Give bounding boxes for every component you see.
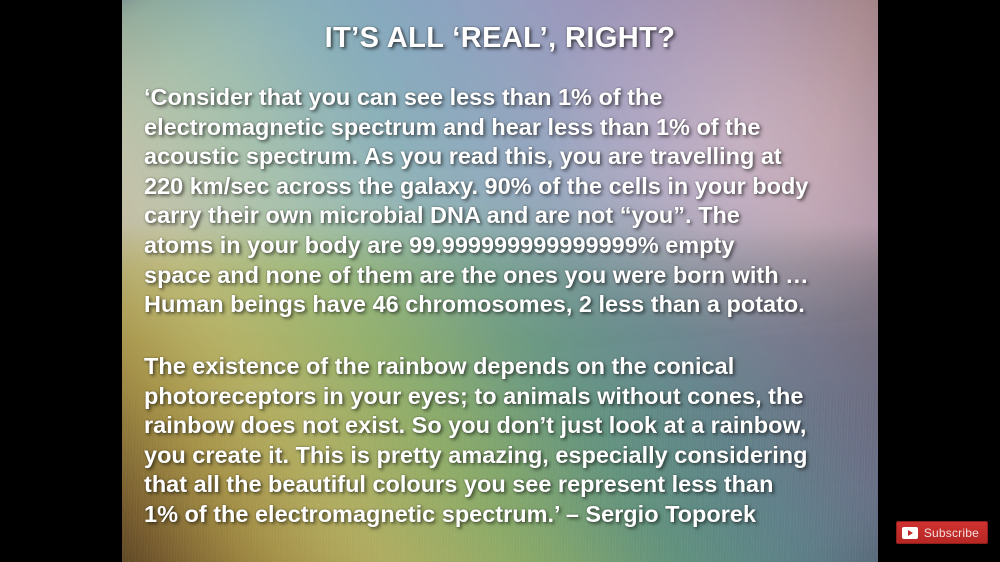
quote-line: Human beings have 46 chromosomes, 2 less… — [144, 290, 868, 320]
video-frame[interactable]: IT’S ALL ‘REAL’, RIGHT? ‘Consider that y… — [122, 0, 878, 562]
quote-line: space and none of them are the ones you … — [144, 261, 868, 291]
quote-paragraph-1: ‘Consider that you can see less than 1% … — [144, 83, 868, 320]
subscribe-label: Subscribe — [924, 526, 979, 540]
quote-line: ‘Consider that you can see less than 1% … — [144, 83, 868, 113]
quote-line: carry their own microbial DNA and are no… — [144, 201, 868, 231]
slide-title: IT’S ALL ‘REAL’, RIGHT? — [122, 22, 878, 55]
video-player[interactable]: IT’S ALL ‘REAL’, RIGHT? ‘Consider that y… — [0, 0, 1000, 562]
slide-text-overlay: IT’S ALL ‘REAL’, RIGHT? ‘Consider that y… — [122, 0, 878, 562]
quote-line: rainbow does not exist. So you don’t jus… — [144, 411, 868, 441]
quote-line: you create it. This is pretty amazing, e… — [144, 441, 868, 471]
subscribe-button[interactable]: Subscribe — [896, 521, 988, 544]
quote-line: 1% of the electromagnetic spectrum.’ – S… — [144, 500, 868, 530]
youtube-play-icon — [902, 527, 918, 539]
quote-line: The existence of the rainbow depends on … — [144, 352, 868, 382]
quote-line: acoustic spectrum. As you read this, you… — [144, 142, 868, 172]
quote-line: photoreceptors in your eyes; to animals … — [144, 382, 868, 412]
quote-line: 220 km/sec across the galaxy. 90% of the… — [144, 172, 868, 202]
quote-line: atoms in your body are 99.99999999999999… — [144, 231, 868, 261]
quote-line: that all the beautiful colours you see r… — [144, 470, 868, 500]
quote-line: electromagnetic spectrum and hear less t… — [144, 113, 868, 143]
quote-paragraph-2: The existence of the rainbow depends on … — [144, 352, 868, 530]
